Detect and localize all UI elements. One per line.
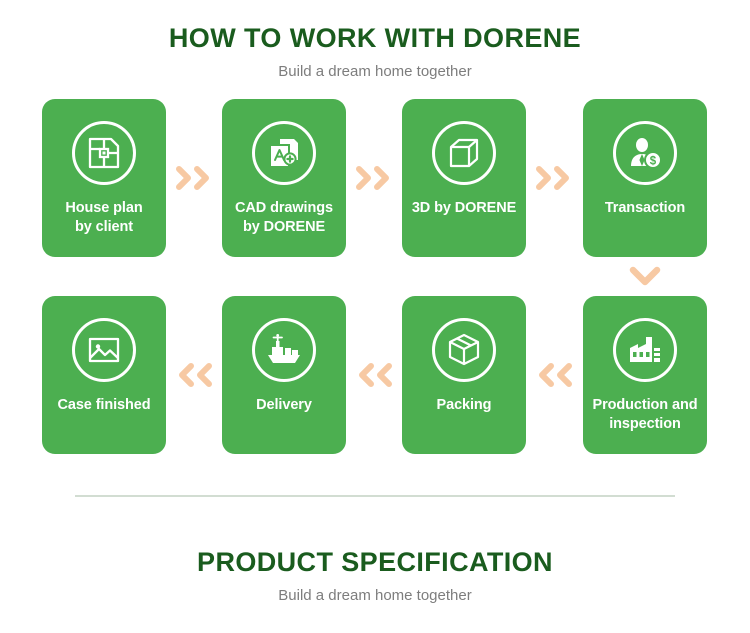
flow-card-production-inspection[interactable]: Production and inspection (583, 296, 707, 454)
cad-document-icon (252, 121, 316, 185)
photo-image-icon (72, 318, 136, 382)
flow-card-label: CAD drawings by DORENE (225, 199, 343, 237)
flow-row-2: Case finished Delivery (0, 296, 750, 454)
flow-card-transaction[interactable]: $ Transaction (583, 99, 707, 257)
flow-card-label: Packing (405, 396, 523, 415)
flow-card-label: Case finished (45, 396, 163, 415)
flow-card-house-plan[interactable]: House plan by client (42, 99, 166, 257)
flow-card-packing[interactable]: Packing (402, 296, 526, 454)
flow-card-case-finished[interactable]: Case finished (42, 296, 166, 454)
flow-card-label: Transaction (586, 199, 704, 218)
page-title: HOW TO WORK WITH DORENE (0, 24, 750, 54)
connector-down (583, 257, 707, 296)
footer-section: PRODUCT SPECIFICATION Build a dream home… (0, 495, 750, 604)
connector-left-3 (526, 296, 582, 454)
person-dollar-icon: $ (613, 121, 677, 185)
page-subtitle: Build a dream home together (0, 63, 750, 80)
section-divider (75, 495, 675, 497)
flow-card-cad-drawings[interactable]: CAD drawings by DORENE (222, 99, 346, 257)
svg-text:$: $ (650, 155, 657, 167)
package-box-icon (432, 318, 496, 382)
flow-card-label: House plan by client (45, 199, 163, 237)
flow-card-label: Production and inspection (586, 396, 704, 434)
header-section: HOW TO WORK WITH DORENE Build a dream ho… (0, 0, 750, 80)
connector-right-2 (346, 99, 402, 257)
cube-3d-icon (432, 121, 496, 185)
footer-title: PRODUCT SPECIFICATION (0, 548, 750, 578)
flow-card-delivery[interactable]: Delivery (222, 296, 346, 454)
flow-card-label: Delivery (225, 396, 343, 415)
connector-left-2 (346, 296, 402, 454)
process-flow-diagram: House plan by client CAD drawings by DOR… (0, 99, 750, 469)
connector-right-1 (166, 99, 222, 257)
flow-card-3d[interactable]: 3D by DORENE (402, 99, 526, 257)
connector-left-1 (166, 296, 222, 454)
footer-subtitle: Build a dream home together (0, 587, 750, 604)
floor-plan-icon (72, 121, 136, 185)
flow-card-label: 3D by DORENE (405, 199, 523, 218)
flow-row-1: House plan by client CAD drawings by DOR… (0, 99, 750, 257)
connector-right-3 (526, 99, 582, 257)
factory-icon (613, 318, 677, 382)
cargo-ship-icon (252, 318, 316, 382)
